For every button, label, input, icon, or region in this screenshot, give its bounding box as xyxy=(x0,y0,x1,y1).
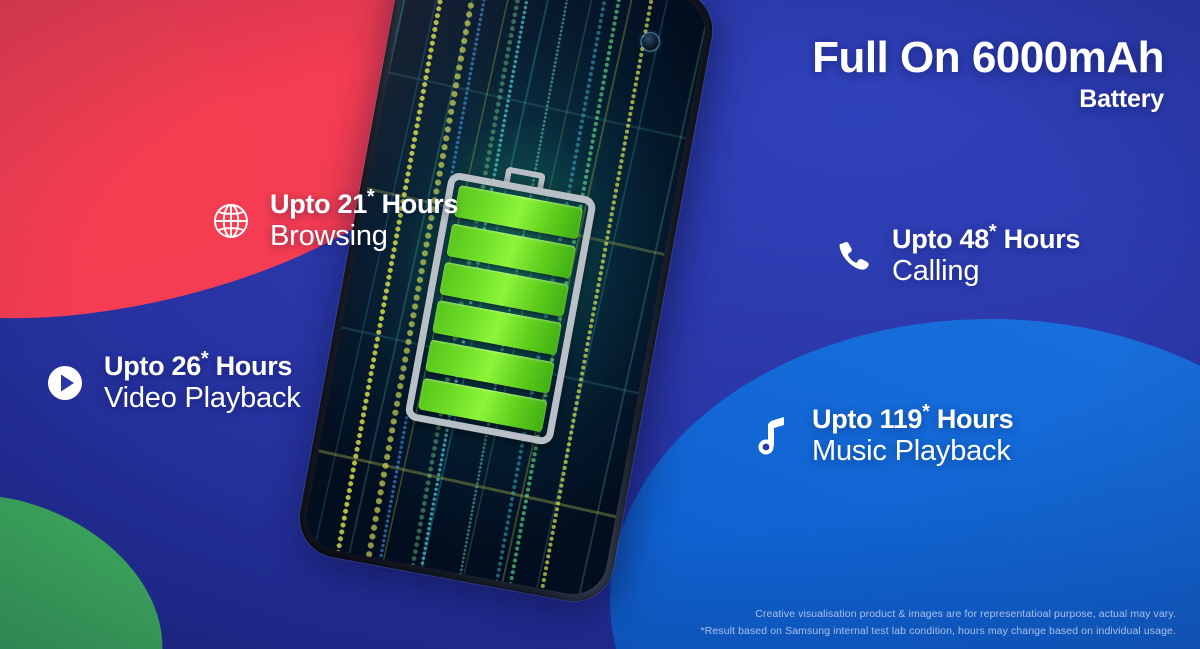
feature-music-playback-unit: Hours xyxy=(930,404,1014,434)
feature-calling: Upto 48* Hours Calling xyxy=(830,225,1080,286)
feature-calling-hours: Upto 48 xyxy=(892,224,989,254)
feature-calling-line1: Upto 48* Hours xyxy=(892,224,1080,254)
feature-calling-label: Calling xyxy=(892,256,1080,287)
feature-video-playback-label: Video Playback xyxy=(104,383,301,414)
battery-promo-poster: Full On 6000mAh Battery Upto 21* Hours B… xyxy=(0,0,1200,649)
feature-music-playback: Upto 119* Hours Music Playback xyxy=(750,405,1013,466)
feature-music-playback-text: Upto 119* Hours Music Playback xyxy=(812,405,1013,466)
play-circle-icon xyxy=(42,360,88,406)
feature-browsing-line1: Upto 21* Hours xyxy=(270,189,458,219)
feature-browsing-label: Browsing xyxy=(270,221,458,252)
feature-video-playback: Upto 26* Hours Video Playback xyxy=(42,352,301,413)
headline-main: Full On 6000mAh xyxy=(812,36,1164,80)
feature-music-playback-line1: Upto 119* Hours xyxy=(812,404,1013,434)
feature-browsing-text: Upto 21* Hours Browsing xyxy=(270,190,458,251)
feature-video-playback-line1: Upto 26* Hours xyxy=(104,351,292,381)
feature-music-playback-hours: Upto 119 xyxy=(812,404,922,434)
disclaimer-line-2: *Result based on Samsung internal test l… xyxy=(701,623,1177,639)
feature-browsing-unit: Hours xyxy=(374,189,458,219)
headline-sub: Battery xyxy=(812,84,1164,114)
feature-video-playback-text: Upto 26* Hours Video Playback xyxy=(104,352,301,413)
headline: Full On 6000mAh Battery xyxy=(812,36,1164,114)
music-note-icon xyxy=(750,413,796,459)
phone-handset-icon xyxy=(830,233,876,279)
globe-icon xyxy=(208,198,254,244)
feature-calling-unit: Hours xyxy=(996,224,1080,254)
disclaimer: Creative visualisation product & images … xyxy=(701,606,1177,639)
disclaimer-line-1: Creative visualisation product & images … xyxy=(701,606,1177,622)
feature-music-playback-footnote-marker: * xyxy=(922,401,929,423)
feature-browsing-hours: Upto 21 xyxy=(270,189,367,219)
feature-browsing: Upto 21* Hours Browsing xyxy=(208,190,458,251)
feature-music-playback-label: Music Playback xyxy=(812,436,1013,467)
feature-video-playback-unit: Hours xyxy=(208,351,292,381)
feature-calling-text: Upto 48* Hours Calling xyxy=(892,225,1080,286)
feature-video-playback-hours: Upto 26 xyxy=(104,351,201,381)
